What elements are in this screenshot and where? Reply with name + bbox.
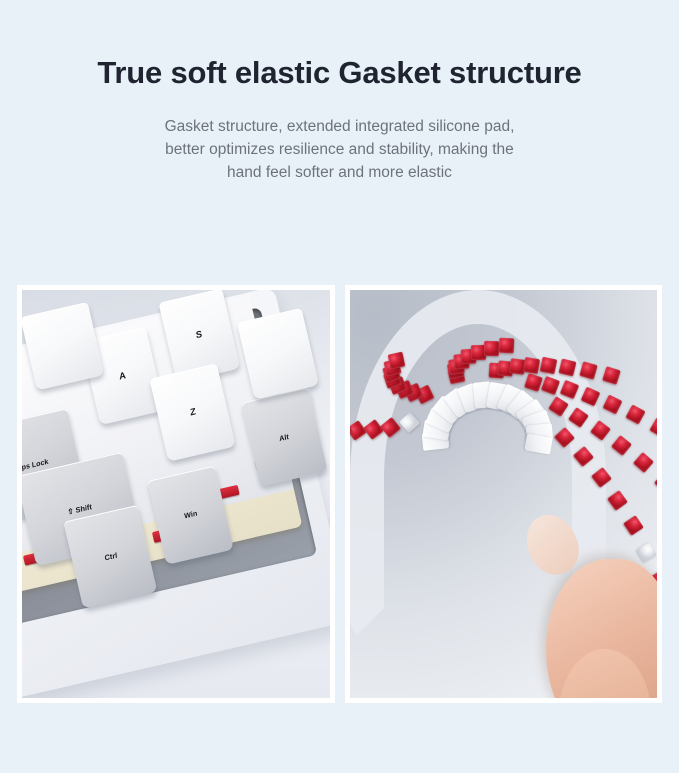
switch: [539, 357, 557, 375]
switch: [607, 490, 628, 511]
subtitle-line-2: better optimizes resilience and stabilit…: [105, 138, 575, 161]
switch: [388, 351, 406, 369]
keyboard-corner-photo: ⇤ TabCaps Lock⇧ ShiftCtrlWinASZAlt: [22, 290, 330, 698]
switch: [499, 338, 515, 354]
flexible-pcb-panel: [345, 285, 663, 703]
switch: [649, 417, 657, 438]
subtitle-line-1: Gasket structure, extended integrated si…: [105, 115, 575, 138]
subtitle-line-3: hand feel softer and more elastic: [105, 161, 575, 184]
switch: [654, 472, 657, 493]
keyboard-corner-panel: ⇤ TabCaps Lock⇧ ShiftCtrlWinASZAlt: [17, 285, 335, 703]
keycap-legend: Z: [190, 406, 197, 418]
switch: [633, 452, 654, 473]
keycap-blank-9: [22, 301, 104, 390]
switch: [558, 358, 576, 376]
keycap-legend: Alt: [279, 431, 289, 442]
flex-scene: [350, 290, 658, 698]
page-subtitle: Gasket structure, extended integrated si…: [105, 115, 575, 184]
promo-page: True soft elastic Gasket structure Gaske…: [0, 0, 679, 773]
switch: [523, 357, 540, 374]
switch: [636, 542, 657, 563]
switch: [484, 341, 499, 356]
photo-panel-row: ⇤ TabCaps Lock⇧ ShiftCtrlWinASZAlt: [17, 285, 662, 703]
switch: [611, 435, 632, 456]
switch: [623, 515, 644, 536]
keycap-legend: ⇧ Shift: [67, 501, 92, 515]
flexible-pcb-photo: [350, 290, 658, 698]
header-text-block: True soft elastic Gasket structure Gaske…: [0, 52, 679, 184]
switch: [602, 394, 622, 414]
page-title: True soft elastic Gasket structure: [80, 52, 600, 93]
switch: [625, 405, 645, 425]
keycap-legend: A: [119, 369, 127, 381]
keyboard-scene: ⇤ TabCaps Lock⇧ ShiftCtrlWinASZAlt: [22, 290, 330, 698]
keycap-legend: Ctrl: [104, 550, 117, 562]
keycap-legend: Win: [184, 509, 198, 521]
keycap-legend: S: [196, 329, 203, 341]
switch: [602, 366, 621, 385]
